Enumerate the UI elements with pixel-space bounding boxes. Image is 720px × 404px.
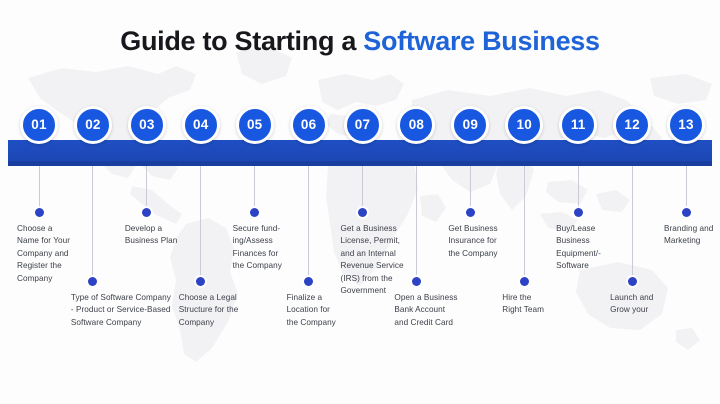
connector-line <box>362 166 363 212</box>
step-circle-10[interactable]: 10 <box>505 106 543 144</box>
step-caption-13: Branding and Marketing <box>664 223 720 248</box>
step-caption-09: Get Business Insurance for the Company <box>448 223 568 260</box>
connector-line <box>254 166 255 212</box>
connector-dot <box>682 208 691 217</box>
step-caption-01: Choose a Name for Your Company and Regis… <box>17 223 137 285</box>
connector-dot <box>412 277 421 286</box>
step-circle-08[interactable]: 08 <box>397 106 435 144</box>
connector-dot <box>88 277 97 286</box>
step-caption-06: Finalize a Location for the Company <box>287 292 407 329</box>
connector-dot <box>628 277 637 286</box>
connector-line <box>524 166 525 281</box>
step-caption-07: Get a Business License, Permit, and an I… <box>341 223 461 297</box>
connector-line <box>686 166 687 212</box>
connector-dot <box>35 208 44 217</box>
step-circle-13[interactable]: 13 <box>667 106 705 144</box>
connector-dot <box>358 208 367 217</box>
title-accent: Software Business <box>363 26 599 56</box>
connector-line <box>416 166 417 281</box>
connector-dot <box>142 208 151 217</box>
step-circle-06[interactable]: 06 <box>290 106 328 144</box>
step-circle-07[interactable]: 07 <box>344 106 382 144</box>
connector-dot <box>196 277 205 286</box>
connector-dot <box>304 277 313 286</box>
connector-line <box>200 166 201 281</box>
connector-dot <box>520 277 529 286</box>
step-circle-01[interactable]: 01 <box>20 106 58 144</box>
connector-dot <box>574 208 583 217</box>
step-caption-11: Buy/Lease Business Equipment/- Software <box>556 223 676 273</box>
step-caption-08: Open a Business Bank Account and Credit … <box>394 292 514 329</box>
step-circle-02[interactable]: 02 <box>74 106 112 144</box>
step-caption-12: Launch and Grow your <box>610 292 720 317</box>
step-circle-12[interactable]: 12 <box>613 106 651 144</box>
step-circle-05[interactable]: 05 <box>236 106 274 144</box>
step-caption-10: Hire the Right Team <box>502 292 622 317</box>
page-title: Guide to Starting a Software Business <box>0 26 720 57</box>
step-circle-11[interactable]: 11 <box>559 106 597 144</box>
connector-dot <box>250 208 259 217</box>
connector-line <box>308 166 309 281</box>
step-circle-09[interactable]: 09 <box>451 106 489 144</box>
step-caption-03: Develop a Business Plan <box>125 223 245 248</box>
step-circle-03[interactable]: 03 <box>128 106 166 144</box>
step-caption-05: Secure fund- ing/Assess Finances for the… <box>233 223 353 273</box>
step-caption-02: Type of Software Company - Product or Se… <box>71 292 191 329</box>
infographic-canvas: Guide to Starting a Software Business Ch… <box>0 0 720 404</box>
connector-line <box>92 166 93 281</box>
connector-line <box>470 166 471 212</box>
step-circle-04[interactable]: 04 <box>182 106 220 144</box>
title-lead: Guide to Starting a <box>120 26 363 56</box>
connector-line <box>578 166 579 212</box>
connector-line <box>39 166 40 212</box>
connector-line <box>632 166 633 281</box>
connector-dot <box>466 208 475 217</box>
step-caption-04: Choose a Legal Structure for the Company <box>179 292 299 329</box>
connector-line <box>146 166 147 212</box>
